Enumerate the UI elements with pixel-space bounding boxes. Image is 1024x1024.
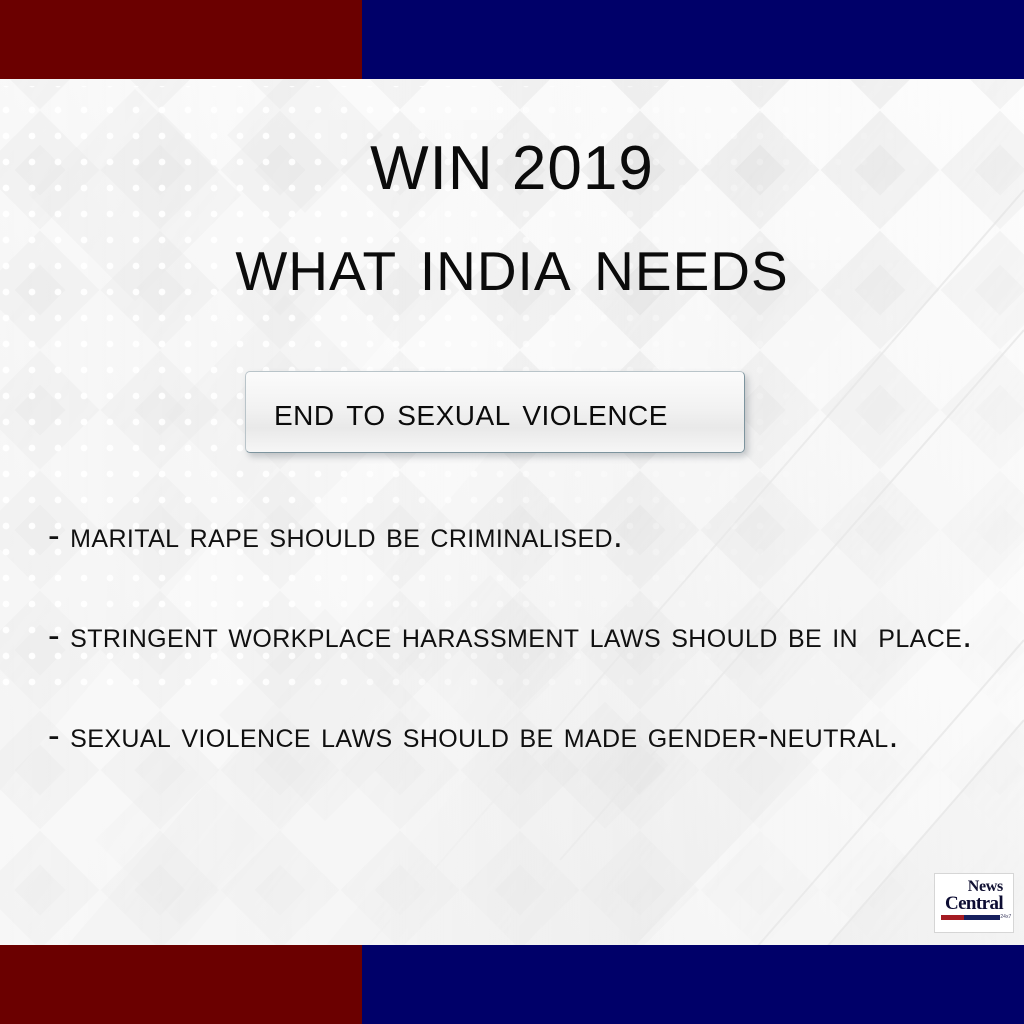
logo-bar-navy-segment	[964, 915, 1000, 920]
bullet-list: - Marital rape should be criminalised. -…	[48, 505, 998, 767]
poster-canvas: WIN 2019 What India Needs End to sexual …	[0, 0, 1024, 1024]
logo-tagline: 24x7	[1000, 915, 1007, 920]
news-central-logo: News Central 24x7	[935, 874, 1013, 932]
subtitle-plaque: End to sexual violence	[245, 371, 745, 453]
page-title: What India Needs	[0, 215, 1024, 311]
logo-bar-red-segment	[941, 915, 964, 920]
logo-line-news: News	[941, 879, 1007, 894]
top-bar-navy-segment	[362, 0, 1024, 79]
bottom-color-bar	[0, 945, 1024, 1024]
bottom-bar-red-segment	[0, 945, 362, 1024]
top-color-bar	[0, 0, 1024, 79]
subtitle-text: End to sexual violence	[246, 390, 744, 434]
logo-inner: News Central 24x7	[935, 874, 1013, 932]
content-stage: WIN 2019 What India Needs End to sexual …	[0, 0, 1024, 1024]
kicker-title: WIN 2019	[0, 134, 1024, 204]
list-item: - Stringent workplace harassment laws sh…	[48, 605, 998, 667]
logo-underline-bar: 24x7	[941, 915, 1007, 920]
bottom-bar-navy-segment	[362, 945, 1024, 1024]
list-item: - Marital rape should be criminalised.	[48, 505, 998, 567]
logo-line-central: Central	[941, 894, 1007, 913]
top-bar-red-segment	[0, 0, 362, 79]
list-item: - Sexual violence laws should be made ge…	[48, 705, 998, 767]
